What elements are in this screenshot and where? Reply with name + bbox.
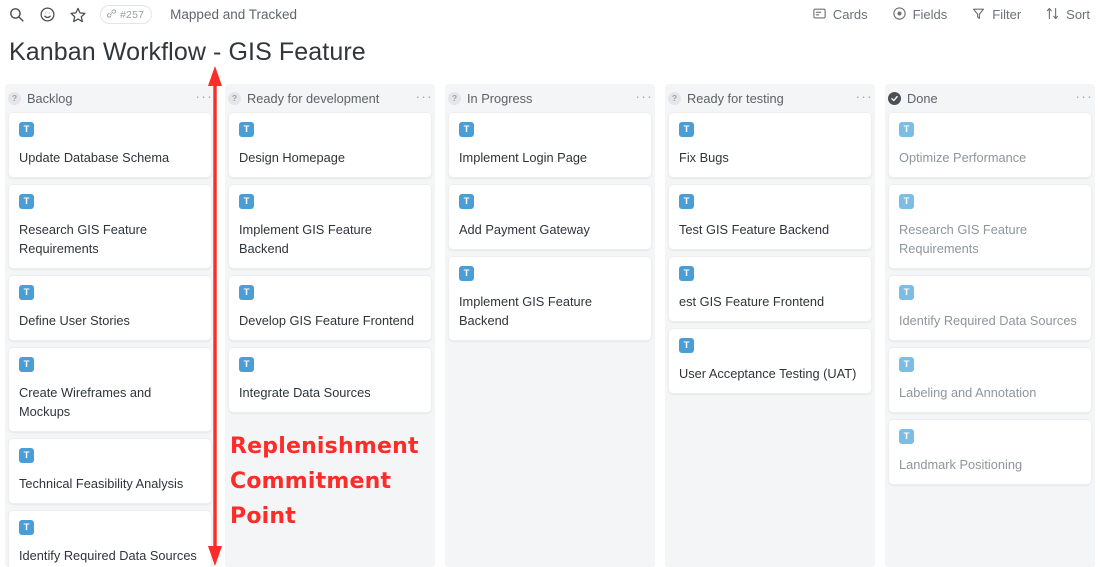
task-type-icon: T	[459, 194, 474, 209]
issue-number: #257	[120, 9, 144, 21]
task-type-icon: T	[679, 266, 694, 281]
filter-button[interactable]: Filter	[971, 6, 1021, 24]
column-title[interactable]: In Progress	[467, 91, 532, 106]
kanban-card[interactable]: TUser Acceptance Testing (UAT)	[668, 328, 872, 394]
card-title: Identify Required Data Sources	[899, 311, 1081, 330]
sort-button[interactable]: Sort	[1045, 6, 1090, 24]
column-menu-button[interactable]: ···	[415, 91, 433, 105]
card-title: Develop GIS Feature Frontend	[239, 311, 421, 330]
column-header-backlog: ?Backlog···	[0, 84, 220, 112]
top-toolbar: #257 Mapped and Tracked Cards	[0, 0, 1100, 29]
task-type-icon: T	[19, 448, 34, 463]
task-type-icon: T	[899, 194, 914, 209]
filter-icon	[971, 6, 986, 24]
fields-icon	[892, 6, 907, 24]
kanban-card[interactable]: TLabeling and Annotation	[888, 347, 1092, 413]
question-circle-icon: ?	[668, 92, 681, 105]
kanban-card[interactable]: TImplement Login Page	[448, 112, 652, 178]
kanban-card[interactable]: TDefine User Stories	[8, 275, 212, 341]
card-title: Design Homepage	[239, 148, 421, 167]
task-type-icon: T	[899, 122, 914, 137]
board-column-in-progress: ?In Progress···TImplement Login PageTAdd…	[440, 84, 660, 567]
emoji-icon[interactable]	[38, 6, 56, 24]
kanban-card[interactable]: TDevelop GIS Feature Frontend	[228, 275, 432, 341]
task-type-icon: T	[459, 122, 474, 137]
kanban-card[interactable]: TImplement GIS Feature Backend	[448, 256, 652, 341]
task-type-icon: T	[899, 285, 914, 300]
kanban-card[interactable]: TIdentify Required Data Sources	[8, 510, 212, 567]
card-title: Test GIS Feature Backend	[679, 220, 861, 239]
task-type-icon: T	[899, 429, 914, 444]
card-title: Create Wireframes and Mockups	[19, 383, 201, 421]
annotation-line-2: Commitment	[230, 464, 419, 499]
board-column-done: Done···TOptimize PerformanceTResearch GI…	[880, 84, 1100, 567]
column-card-list: TDesign HomepageTImplement GIS Feature B…	[220, 112, 440, 413]
card-title: Integrate Data Sources	[239, 383, 421, 402]
column-menu-button[interactable]: ···	[635, 91, 653, 105]
card-title: Optimize Performance	[899, 148, 1081, 167]
filter-label: Filter	[992, 7, 1021, 22]
task-type-icon: T	[19, 357, 34, 372]
page-title: Kanban Workflow - GIS Feature	[9, 38, 366, 67]
link-icon	[106, 8, 117, 22]
card-title: Add Payment Gateway	[459, 220, 641, 239]
fields-label: Fields	[913, 7, 948, 22]
card-title: Define User Stories	[19, 311, 201, 330]
toolbar-left-group: #257 Mapped and Tracked	[0, 5, 297, 24]
issue-number-pill[interactable]: #257	[100, 5, 152, 24]
card-title: Identify Required Data Sources	[19, 546, 201, 565]
board-column-backlog: ?Backlog···TUpdate Database SchemaTResea…	[0, 84, 220, 567]
task-type-icon: T	[19, 122, 34, 137]
check-circle-icon	[888, 92, 901, 105]
kanban-card[interactable]: TFix Bugs	[668, 112, 872, 178]
column-title[interactable]: Backlog	[27, 91, 73, 106]
column-title[interactable]: Ready for development	[247, 91, 379, 106]
task-type-icon: T	[19, 285, 34, 300]
card-title: Labeling and Annotation	[899, 383, 1081, 402]
task-type-icon: T	[239, 194, 254, 209]
task-type-icon: T	[239, 122, 254, 137]
card-title: User Acceptance Testing (UAT)	[679, 364, 861, 383]
column-menu-button[interactable]: ···	[855, 91, 873, 105]
column-title[interactable]: Ready for testing	[687, 91, 784, 106]
cards-label: Cards	[833, 7, 868, 22]
annotation-line-3: Point	[230, 499, 419, 534]
card-title: Fix Bugs	[679, 148, 861, 167]
question-circle-icon: ?	[228, 92, 241, 105]
cards-button[interactable]: Cards	[812, 6, 868, 24]
column-card-list: TUpdate Database SchemaTResearch GIS Fea…	[0, 112, 220, 567]
kanban-card[interactable]: TDesign Homepage	[228, 112, 432, 178]
task-type-icon: T	[679, 338, 694, 353]
kanban-card[interactable]: TResearch GIS Feature Requirements	[888, 184, 1092, 269]
kanban-card[interactable]: TResearch GIS Feature Requirements	[8, 184, 212, 269]
task-type-icon: T	[459, 266, 474, 281]
card-title: Implement Login Page	[459, 148, 641, 167]
card-title: Implement GIS Feature Backend	[459, 292, 641, 330]
card-title: Technical Feasibility Analysis	[19, 474, 201, 493]
kanban-card[interactable]: Test GIS Feature Frontend	[668, 256, 872, 322]
task-type-icon: T	[899, 357, 914, 372]
task-type-icon: T	[19, 194, 34, 209]
kanban-card[interactable]: TCreate Wireframes and Mockups	[8, 347, 212, 432]
kanban-card[interactable]: TImplement GIS Feature Backend	[228, 184, 432, 269]
column-header-in-progress: ?In Progress···	[440, 84, 660, 112]
column-menu-button[interactable]: ···	[195, 91, 213, 105]
question-circle-icon: ?	[448, 92, 461, 105]
column-card-list: TImplement Login PageTAdd Payment Gatewa…	[440, 112, 660, 341]
kanban-card[interactable]: TLandmark Positioning	[888, 419, 1092, 485]
card-title: Update Database Schema	[19, 148, 201, 167]
search-icon[interactable]	[7, 6, 25, 24]
column-header-done: Done···	[880, 84, 1100, 112]
column-header-ready-for-testing: ?Ready for testing···	[660, 84, 880, 112]
task-type-icon: T	[19, 520, 34, 535]
kanban-card[interactable]: TUpdate Database Schema	[8, 112, 212, 178]
card-title: est GIS Feature Frontend	[679, 292, 861, 311]
card-title: Research GIS Feature Requirements	[899, 220, 1081, 258]
kanban-app: #257 Mapped and Tracked Cards	[0, 0, 1100, 567]
kanban-card[interactable]: TAdd Payment Gateway	[448, 184, 652, 250]
board-column-ready-for-testing: ?Ready for testing···TFix BugsTTest GIS …	[660, 84, 880, 567]
breadcrumb[interactable]: Mapped and Tracked	[170, 7, 297, 22]
column-menu-button[interactable]: ···	[1075, 91, 1093, 105]
kanban-card[interactable]: TTechnical Feasibility Analysis	[8, 438, 212, 504]
toolbar-right-group: Cards Fields Filter	[812, 0, 1090, 29]
annotation-line-1: Replenishment	[230, 429, 419, 464]
column-header-ready-for-development: ?Ready for development···	[220, 84, 440, 112]
kanban-card[interactable]: TIdentify Required Data Sources	[888, 275, 1092, 341]
replenishment-commitment-point-annotation: Replenishment Commitment Point	[230, 429, 419, 534]
fields-button[interactable]: Fields	[892, 6, 948, 24]
sort-icon	[1045, 6, 1060, 24]
card-title: Landmark Positioning	[899, 455, 1081, 474]
card-title: Implement GIS Feature Backend	[239, 220, 421, 258]
question-circle-icon: ?	[8, 92, 21, 105]
task-type-icon: T	[239, 357, 254, 372]
column-card-list: TOptimize PerformanceTResearch GIS Featu…	[880, 112, 1100, 485]
sort-label: Sort	[1066, 7, 1090, 22]
column-title[interactable]: Done	[907, 91, 938, 106]
kanban-card[interactable]: TOptimize Performance	[888, 112, 1092, 178]
task-type-icon: T	[679, 194, 694, 209]
column-card-list: TFix BugsTTest GIS Feature BackendTest G…	[660, 112, 880, 394]
star-icon[interactable]	[69, 6, 87, 24]
task-type-icon: T	[239, 285, 254, 300]
kanban-card[interactable]: TIntegrate Data Sources	[228, 347, 432, 413]
card-title: Research GIS Feature Requirements	[19, 220, 201, 258]
cards-icon	[812, 6, 827, 24]
kanban-card[interactable]: TTest GIS Feature Backend	[668, 184, 872, 250]
kanban-board: ?Backlog···TUpdate Database SchemaTResea…	[0, 84, 1100, 567]
task-type-icon: T	[679, 122, 694, 137]
